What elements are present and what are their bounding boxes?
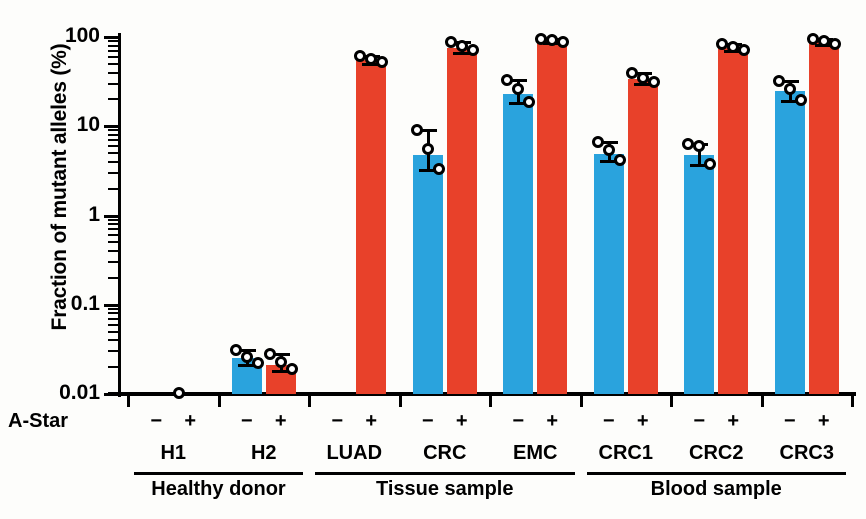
- y-tick-minor: [108, 63, 119, 65]
- data-point: [241, 351, 253, 363]
- bar: [628, 79, 658, 394]
- y-tick-minor: [108, 318, 119, 320]
- chart-figure: Fraction of mutant alleles (%) 1001010.1…: [0, 0, 866, 519]
- y-tick-minor: [108, 250, 119, 252]
- y-tick-minor: [108, 45, 119, 47]
- y-tick-label: 100: [0, 25, 100, 46]
- y-axis-title: Fraction of mutant alleles (%): [48, 0, 72, 377]
- y-tick-minor: [108, 277, 119, 279]
- astar-row-label: A-Star: [8, 410, 68, 433]
- data-point: [456, 40, 468, 52]
- data-point: [614, 154, 626, 166]
- data-point: [784, 83, 796, 95]
- data-point: [286, 363, 298, 375]
- data-point: [275, 356, 287, 368]
- astar-sign: +: [170, 410, 210, 433]
- y-tick-minor: [108, 331, 119, 333]
- y-tick-minor: [108, 219, 119, 221]
- y-tick-minor: [108, 339, 119, 341]
- y-tick-minor: [108, 228, 119, 230]
- data-point: [467, 44, 479, 56]
- group-label: Healthy donor: [134, 478, 303, 501]
- group-rule: [315, 472, 575, 475]
- y-tick-minor: [108, 129, 119, 131]
- y-tick-minor: [108, 172, 119, 174]
- bar: [684, 155, 714, 394]
- y-tick-minor: [108, 145, 119, 147]
- astar-sign: +: [804, 410, 844, 433]
- data-point: [411, 124, 423, 136]
- y-tick-minor: [108, 83, 119, 85]
- y-tick-minor: [108, 134, 119, 136]
- y-tick-minor: [108, 234, 119, 236]
- astar-sign: +: [261, 410, 301, 433]
- bar: [594, 154, 624, 394]
- x-axis-annotations: A-Star −+H1−+H2−+LUAD−+CRC−+EMC−+CRC1−+C…: [0, 396, 866, 519]
- bar: [503, 94, 533, 394]
- category-label: CRC3: [752, 442, 862, 465]
- y-tick-minor: [108, 324, 119, 326]
- astar-sign: +: [442, 410, 482, 433]
- astar-sign: +: [351, 410, 391, 433]
- y-tick-minor: [108, 241, 119, 243]
- y-tick-minor: [108, 40, 119, 42]
- y-tick-minor: [108, 350, 119, 352]
- data-point: [818, 35, 830, 47]
- y-tick-minor: [108, 223, 119, 225]
- data-point: [829, 38, 841, 50]
- astar-sign: +: [713, 410, 753, 433]
- data-point: [264, 348, 276, 360]
- group-label: Tissue sample: [315, 478, 575, 501]
- y-tick-major: [104, 304, 119, 307]
- bar: [775, 91, 805, 394]
- bar: [809, 42, 839, 394]
- data-point: [637, 72, 649, 84]
- bar: [537, 41, 567, 394]
- y-tick-minor: [108, 152, 119, 154]
- data-point: [433, 163, 445, 175]
- data-point: [773, 75, 785, 87]
- y-tick-major: [104, 215, 119, 218]
- y-tick-major: [104, 36, 119, 39]
- data-point: [603, 144, 615, 156]
- y-tick-minor: [108, 139, 119, 141]
- astar-sign: +: [532, 410, 572, 433]
- y-tick-minor: [108, 50, 119, 52]
- data-point: [173, 387, 185, 399]
- data-point: [807, 33, 819, 45]
- bar: [718, 48, 748, 394]
- y-tick-minor: [108, 188, 119, 190]
- astar-sign: +: [623, 410, 663, 433]
- data-point: [422, 143, 434, 155]
- bar: [356, 60, 386, 394]
- y-tick-label: 10: [0, 114, 100, 135]
- y-tick-minor: [108, 72, 119, 74]
- y-tick-minor: [108, 56, 119, 58]
- y-tick-label: 0.1: [0, 293, 100, 314]
- data-point: [230, 344, 242, 356]
- y-tick-label: 1: [0, 204, 100, 225]
- y-tick-major: [104, 125, 119, 128]
- group-label: Blood sample: [587, 478, 847, 501]
- bar: [413, 155, 443, 394]
- y-tick-minor: [108, 366, 119, 368]
- group-rule: [587, 472, 847, 475]
- data-point: [704, 158, 716, 170]
- y-tick-minor: [108, 312, 119, 314]
- y-tick-minor: [108, 98, 119, 100]
- data-point: [445, 36, 457, 48]
- bar: [447, 48, 477, 394]
- group-rule: [134, 472, 303, 475]
- y-tick-minor: [108, 308, 119, 310]
- y-tick-minor: [108, 161, 119, 163]
- y-tick-minor: [108, 261, 119, 263]
